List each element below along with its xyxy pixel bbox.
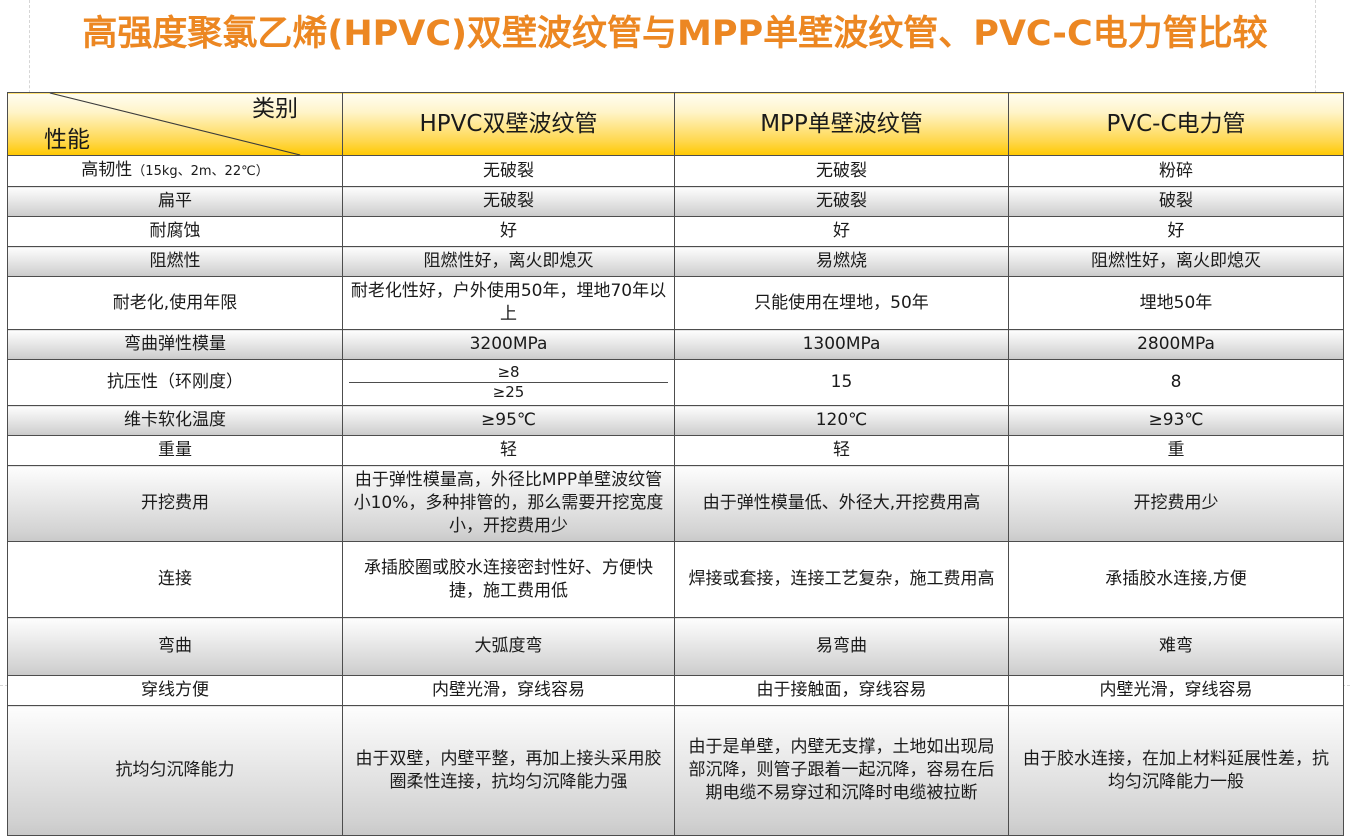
table-row: 抗均匀沉降能力 由于双壁，内壁平整，再加上接头采用胶圈柔性连接，抗均匀沉降能力强… <box>8 706 1344 836</box>
header-property-label: 性能 <box>44 129 90 152</box>
cell-hpvc: 阻燃性好，离火即熄灭 <box>343 247 675 277</box>
table-row: 维卡软化温度 ≥95℃ 120℃ ≥93℃ <box>8 406 1344 436</box>
cell-pvcc: ≥93℃ <box>1009 406 1344 436</box>
cell-pvcc: 开挖费用少 <box>1009 466 1344 542</box>
cell-pvcc: 2800MPa <box>1009 330 1344 360</box>
nested-value-lower: ≥25 <box>349 383 668 403</box>
row-label: 扁平 <box>8 187 343 217</box>
row-label: 耐老化,使用年限 <box>8 277 343 330</box>
cell-pvcc: 内壁光滑，穿线容易 <box>1009 676 1344 706</box>
table-row: 抗压性（环刚度） ≥8 ≥25 15 8 <box>8 360 1344 406</box>
cell-mpp: 易弯曲 <box>675 618 1009 676</box>
cell-pvcc: 阻燃性好，离火即熄灭 <box>1009 247 1344 277</box>
row-label-note: （15kg、2m、22℃） <box>132 164 268 179</box>
cell-hpvc: 好 <box>343 217 675 247</box>
row-label: 开挖费用 <box>8 466 343 542</box>
table-row: 耐腐蚀 好 好 好 <box>8 217 1344 247</box>
row-label: 穿线方便 <box>8 676 343 706</box>
cell-mpp: 无破裂 <box>675 156 1009 187</box>
row-label: 高韧性（15kg、2m、22℃） <box>8 156 343 187</box>
cell-pvcc: 破裂 <box>1009 187 1344 217</box>
cell-mpp: 只能使用在埋地，50年 <box>675 277 1009 330</box>
row-label: 抗均匀沉降能力 <box>8 706 343 836</box>
cell-pvcc: 承插胶水连接,方便 <box>1009 542 1344 618</box>
cell-hpvc: 耐老化性好，户外使用50年，埋地70年以上 <box>343 277 675 330</box>
comparison-table: 类别 性能 HPVC双壁波纹管 MPP单壁波纹管 PVC-C电力管 高韧性（15… <box>7 92 1344 836</box>
nested-row: ≥25 <box>349 383 668 403</box>
row-label: 阻燃性 <box>8 247 343 277</box>
comparison-table-wrap: 类别 性能 HPVC双壁波纹管 MPP单壁波纹管 PVC-C电力管 高韧性（15… <box>7 92 1343 836</box>
cell-hpvc: 无破裂 <box>343 156 675 187</box>
page-title: 高强度聚氯乙烯(HPVC)双壁波纹管与MPP单壁波纹管、PVC-C电力管比较 <box>0 8 1350 60</box>
cell-hpvc: 无破裂 <box>343 187 675 217</box>
header-col-hpvc: HPVC双壁波纹管 <box>343 93 675 156</box>
row-label: 弯曲弹性模量 <box>8 330 343 360</box>
row-label: 弯曲 <box>8 618 343 676</box>
table-row: 阻燃性 阻燃性好，离火即熄灭 易燃烧 阻燃性好，离火即熄灭 <box>8 247 1344 277</box>
cell-pvcc: 好 <box>1009 217 1344 247</box>
cell-mpp: 易燃烧 <box>675 247 1009 277</box>
table-row: 开挖费用 由于弹性模量高，外径比MPP单壁波纹管小10%，多种排管的，那么需要开… <box>8 466 1344 542</box>
table-row: 弯曲 大弧度弯 易弯曲 难弯 <box>8 618 1344 676</box>
table-row: 扁平 无破裂 无破裂 破裂 <box>8 187 1344 217</box>
table-row: 穿线方便 内壁光滑，穿线容易 由于接触面，穿线容易 内壁光滑，穿线容易 <box>8 676 1344 706</box>
cell-mpp: 15 <box>675 360 1009 406</box>
cell-hpvc: 大弧度弯 <box>343 618 675 676</box>
cell-mpp: 由于是单壁，内壁无支撑，土地如出现局部沉降，则管子跟着一起沉降，容易在后期电缆不… <box>675 706 1009 836</box>
cell-mpp: 焊接或套接，连接工艺复杂，施工费用高 <box>675 542 1009 618</box>
cell-pvcc: 重 <box>1009 436 1344 466</box>
cell-pvcc: 难弯 <box>1009 618 1344 676</box>
header-corner-cell: 类别 性能 <box>8 93 343 156</box>
table-row: 连接 承插胶圈或胶水连接密封性好、方便快捷，施工费用低 焊接或套接，连接工艺复杂… <box>8 542 1344 618</box>
corner-diagonal-wrap: 类别 性能 <box>8 93 342 155</box>
table-row: 重量 轻 轻 重 <box>8 436 1344 466</box>
nested-split-table: ≥8 ≥25 <box>349 363 668 402</box>
row-label: 维卡软化温度 <box>8 406 343 436</box>
row-label-text: 高韧性 <box>81 160 132 180</box>
cell-pvcc: 8 <box>1009 360 1344 406</box>
cell-hpvc: 由于双壁，内壁平整，再加上接头采用胶圈柔性连接，抗均匀沉降能力强 <box>343 706 675 836</box>
header-col-pvcc: PVC-C电力管 <box>1009 93 1344 156</box>
row-label: 重量 <box>8 436 343 466</box>
nested-value-upper: ≥8 <box>349 363 668 383</box>
header-col-mpp: MPP单壁波纹管 <box>675 93 1009 156</box>
cell-mpp: 120℃ <box>675 406 1009 436</box>
row-label: 连接 <box>8 542 343 618</box>
table-row: 耐老化,使用年限 耐老化性好，户外使用50年，埋地70年以上 只能使用在埋地，5… <box>8 277 1344 330</box>
table-row: 高韧性（15kg、2m、22℃） 无破裂 无破裂 粉碎 <box>8 156 1344 187</box>
cell-pvcc: 埋地50年 <box>1009 277 1344 330</box>
cell-pvcc: 粉碎 <box>1009 156 1344 187</box>
row-label: 耐腐蚀 <box>8 217 343 247</box>
cell-hpvc: 内壁光滑，穿线容易 <box>343 676 675 706</box>
cell-hpvc-split: ≥8 ≥25 <box>343 360 675 406</box>
cell-hpvc: 由于弹性模量高，外径比MPP单壁波纹管小10%，多种排管的，那么需要开挖宽度小，… <box>343 466 675 542</box>
cell-hpvc: ≥95℃ <box>343 406 675 436</box>
cell-hpvc: 轻 <box>343 436 675 466</box>
cell-mpp: 1300MPa <box>675 330 1009 360</box>
cell-mpp: 轻 <box>675 436 1009 466</box>
cell-hpvc: 3200MPa <box>343 330 675 360</box>
row-label: 抗压性（环刚度） <box>8 360 343 406</box>
cell-pvcc: 由于胶水连接，在加上材料延展性差，抗均匀沉降能力一般 <box>1009 706 1344 836</box>
header-category-label: 类别 <box>252 98 298 121</box>
cell-mpp: 好 <box>675 217 1009 247</box>
cell-hpvc: 承插胶圈或胶水连接密封性好、方便快捷，施工费用低 <box>343 542 675 618</box>
cell-mpp: 无破裂 <box>675 187 1009 217</box>
cell-mpp: 由于接触面，穿线容易 <box>675 676 1009 706</box>
cell-mpp: 由于弹性模量低、外径大,开挖费用高 <box>675 466 1009 542</box>
table-row: 弯曲弹性模量 3200MPa 1300MPa 2800MPa <box>8 330 1344 360</box>
nested-row: ≥8 <box>349 363 668 383</box>
table-header-row: 类别 性能 HPVC双壁波纹管 MPP单壁波纹管 PVC-C电力管 <box>8 93 1344 156</box>
